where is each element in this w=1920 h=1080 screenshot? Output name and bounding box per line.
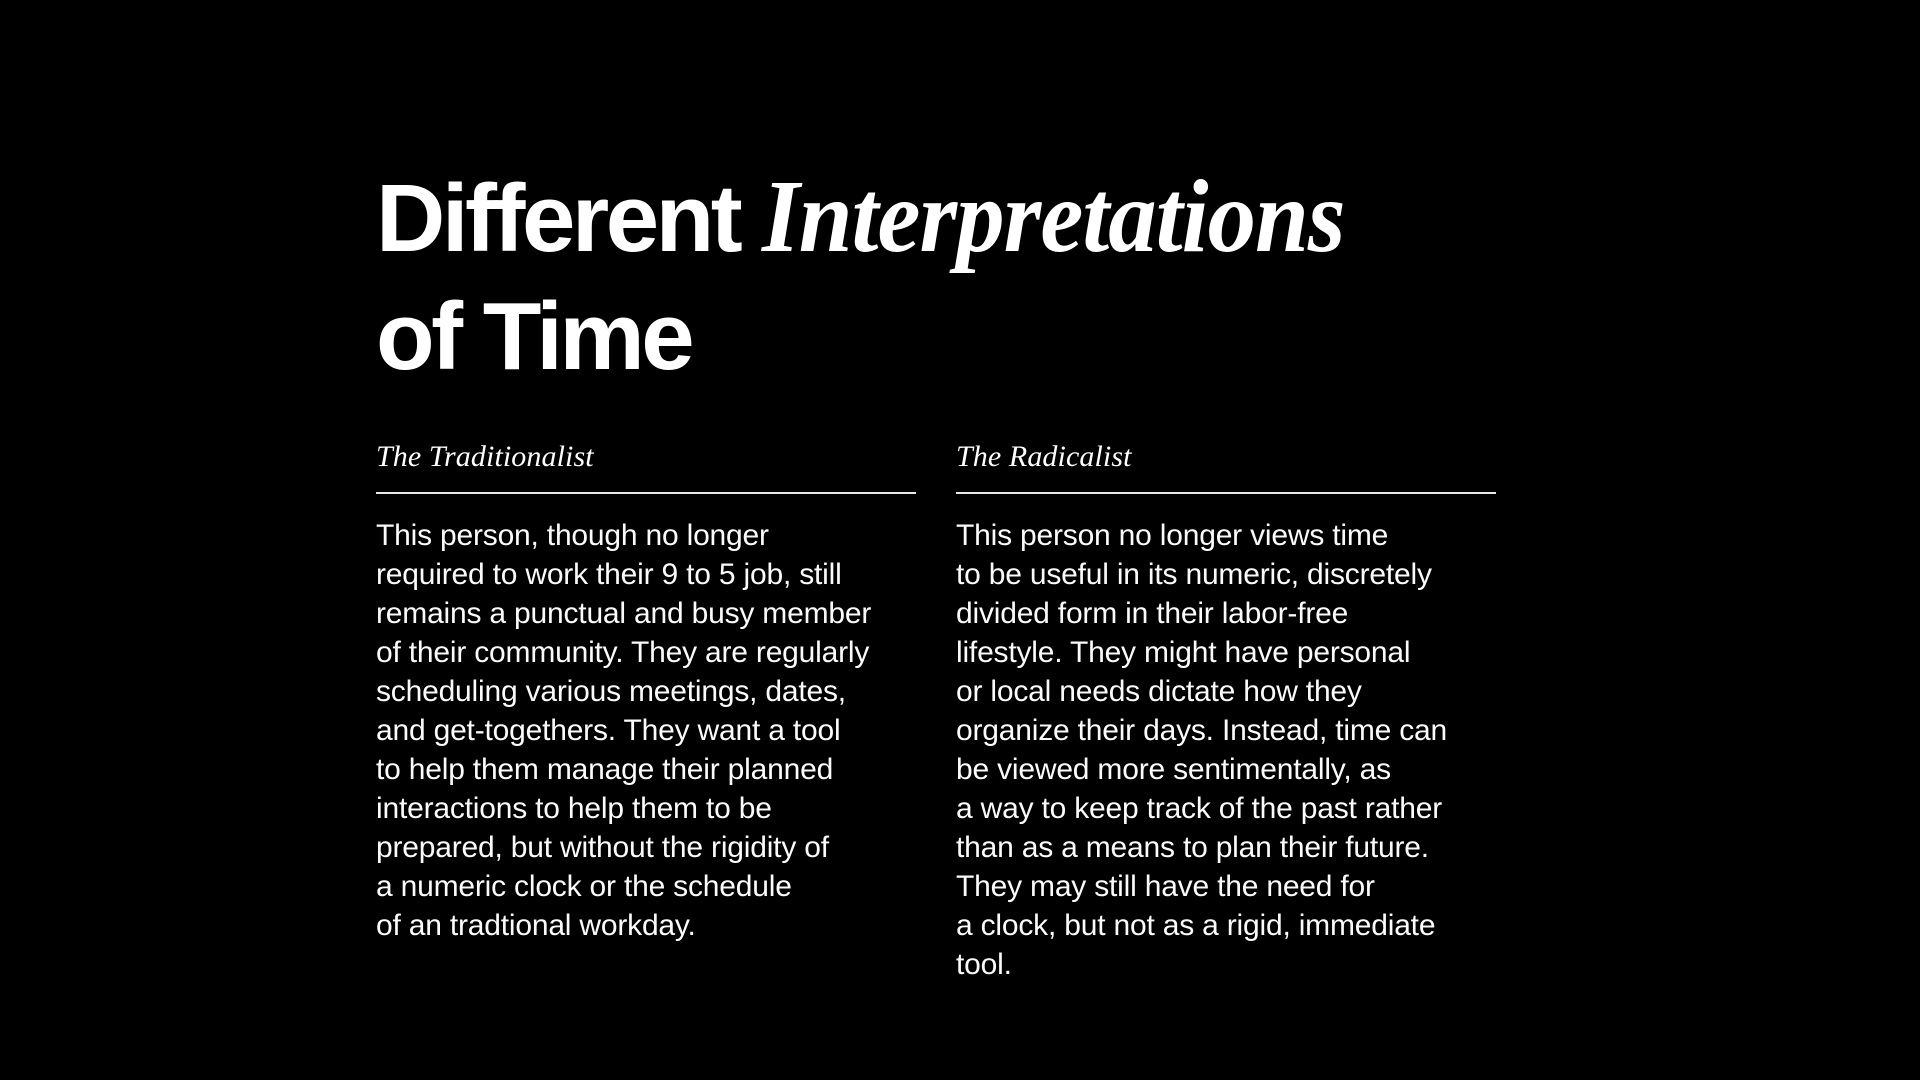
column-traditionalist: The Traditionalist This person, though n…	[376, 440, 916, 984]
title-line-2: of Time	[376, 278, 1676, 396]
column-rule-traditionalist	[376, 492, 916, 494]
column-rule-radicalist	[956, 492, 1496, 494]
title-word-interpretations: Interpretations	[762, 158, 1345, 276]
slide-root: Different Interpretations of Time The Tr…	[0, 0, 1920, 1080]
column-radicalist: The Radicalist This person no longer vie…	[956, 440, 1496, 984]
title-word-different: Different	[376, 165, 762, 272]
column-body-radicalist: This person no longer views time to be u…	[956, 516, 1496, 984]
columns-container: The Traditionalist This person, though n…	[376, 440, 1496, 984]
title-words-of-time: of Time	[376, 283, 691, 390]
column-body-traditionalist: This person, though no longer required t…	[376, 516, 916, 945]
column-heading-radicalist: The Radicalist	[956, 440, 1496, 474]
column-heading-traditionalist: The Traditionalist	[376, 440, 916, 474]
title-line-1: Different Interpretations	[376, 158, 1676, 278]
page-title: Different Interpretations of Time	[376, 158, 1676, 396]
